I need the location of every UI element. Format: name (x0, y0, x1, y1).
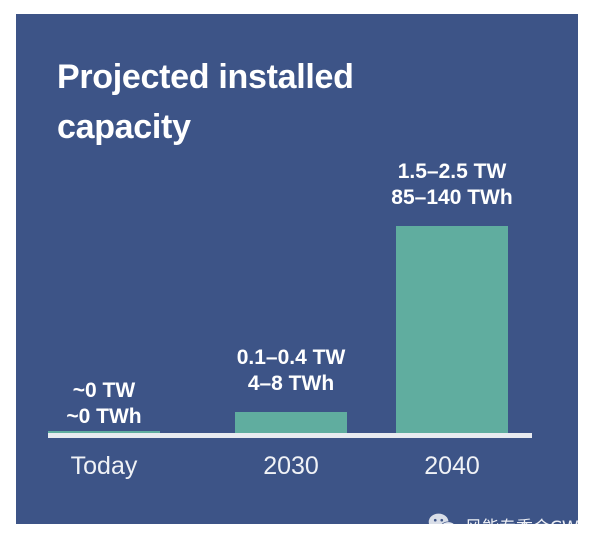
bar-2040 (396, 226, 508, 433)
watermark-label: 风能专委会CWEA (465, 513, 578, 525)
slide-panel: Projected installed capacity ~0 TW ~0 TW… (16, 14, 578, 524)
screenshot-canvas: Projected installed capacity ~0 TW ~0 TW… (0, 0, 604, 546)
bar-chart-plot: ~0 TW ~0 TWh 0.1–0.4 TW 4–8 TWh 1.5–2.5 … (16, 14, 578, 524)
x-tick-label-2040: 2040 (384, 451, 520, 481)
x-tick-label-today: Today (40, 451, 168, 481)
x-axis-line (48, 433, 532, 438)
value-label-2040: 1.5–2.5 TW 85–140 TWh (372, 159, 532, 211)
value-label-2030: 0.1–0.4 TW 4–8 TWh (219, 345, 363, 397)
x-tick-label-2030: 2030 (219, 451, 363, 481)
wechat-icon (428, 512, 458, 524)
watermark: 风能专委会CWEA (428, 512, 578, 524)
bar-2030 (235, 412, 347, 433)
value-label-today: ~0 TW ~0 TWh (40, 378, 168, 430)
